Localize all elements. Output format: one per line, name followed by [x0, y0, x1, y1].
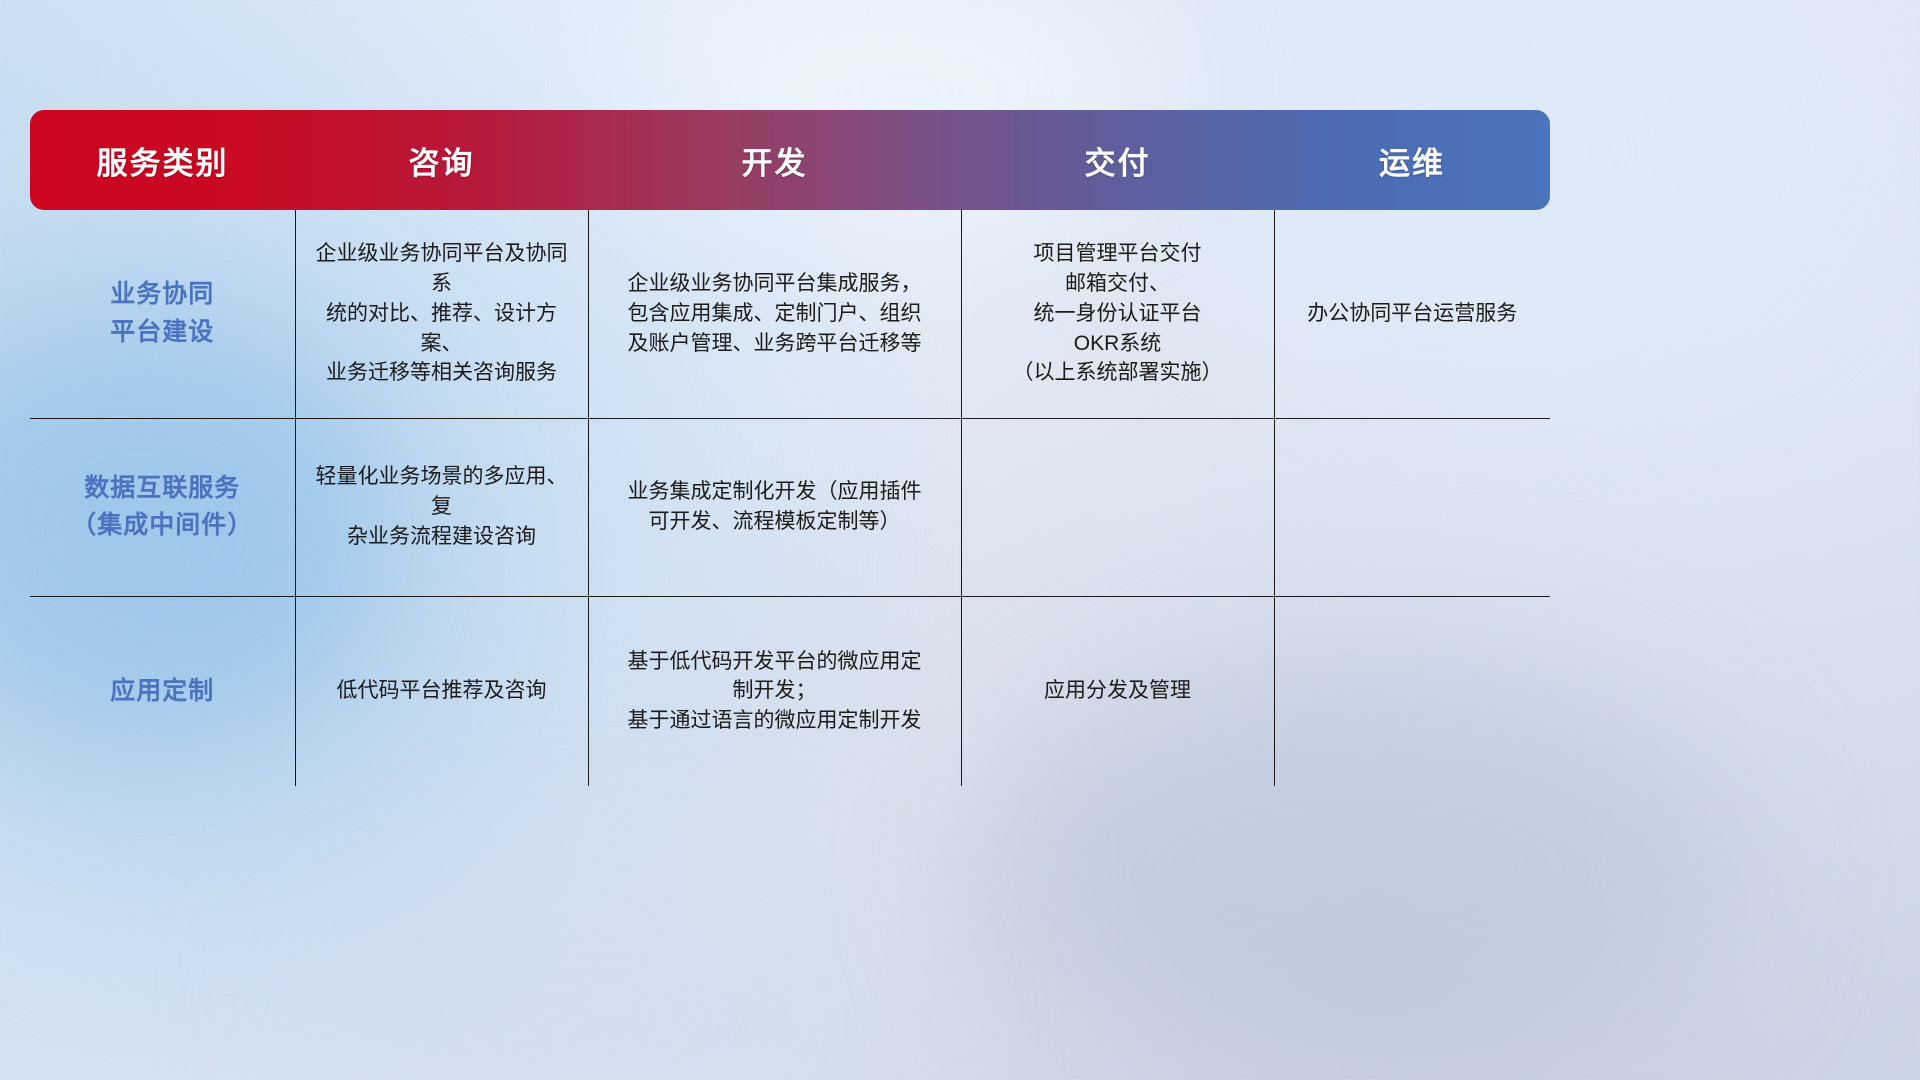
cell-text: 办公协同平台运营服务 — [1307, 302, 1517, 325]
row-label-text: 应用定制 — [110, 677, 214, 705]
table-row: 数据互联服务 （集成中间件） 轻量化业务场景的多应用、复 杂业务流程建设咨询 业… — [30, 418, 1550, 596]
service-matrix-table: 服务类别 咨询 开发 交付 运维 业务协同 平台建设 企业级业务协同平台及协同系… — [30, 110, 1550, 786]
table-row: 业务协同 平台建设 企业级业务协同平台及协同系 统的对比、推荐、设计方案、 业务… — [30, 210, 1550, 418]
row-label-app-customization: 应用定制 — [30, 596, 295, 786]
cell-delivery-row1: 项目管理平台交付 邮箱交付、 统一身份认证平台 OKR系统 （以上系统部署实施） — [961, 210, 1274, 418]
cell-text: 企业级业务协同平台及协同系 统的对比、推荐、设计方案、 业务迁移等相关咨询服务 — [316, 242, 568, 384]
cell-operations-row2 — [1274, 418, 1550, 596]
cell-text: 基于低代码开发平台的微应用定 制开发； 基于通过语言的微应用定制开发 — [628, 650, 922, 733]
row-label-text: 业务协同 平台建设 — [110, 280, 214, 346]
table-header: 服务类别 咨询 开发 交付 运维 — [30, 110, 1550, 210]
cell-consulting-row3: 低代码平台推荐及咨询 — [295, 596, 588, 786]
row-label-data-interconnect: 数据互联服务 （集成中间件） — [30, 418, 295, 596]
cell-consulting-row1: 企业级业务协同平台及协同系 统的对比、推荐、设计方案、 业务迁移等相关咨询服务 — [295, 210, 588, 418]
cell-text: 轻量化业务场景的多应用、复 杂业务流程建设咨询 — [316, 465, 568, 548]
cell-text: 项目管理平台交付 邮箱交付、 统一身份认证平台 OKR系统 （以上系统部署实施） — [1013, 242, 1223, 384]
row-label-business-collaboration: 业务协同 平台建设 — [30, 210, 295, 418]
cell-development-row2: 业务集成定制化开发（应用插件 可开发、流程模板定制等） — [588, 418, 961, 596]
cell-text: 企业级业务协同平台集成服务， 包含应用集成、定制门户、组织 及账户管理、业务跨平… — [628, 272, 922, 355]
cell-operations-row1: 办公协同平台运营服务 — [1274, 210, 1550, 418]
cell-consulting-row2: 轻量化业务场景的多应用、复 杂业务流程建设咨询 — [295, 418, 588, 596]
cell-development-row3: 基于低代码开发平台的微应用定 制开发； 基于通过语言的微应用定制开发 — [588, 596, 961, 786]
column-header-consulting: 咨询 — [295, 110, 588, 210]
background-blob-bottom — [300, 880, 920, 1080]
column-header-operations: 运维 — [1274, 110, 1550, 210]
column-header-delivery: 交付 — [961, 110, 1274, 210]
service-matrix-container: 服务类别 咨询 开发 交付 运维 业务协同 平台建设 企业级业务协同平台及协同系… — [30, 110, 1550, 785]
cell-development-row1: 企业级业务协同平台集成服务， 包含应用集成、定制门户、组织 及账户管理、业务跨平… — [588, 210, 961, 418]
cell-text: 业务集成定制化开发（应用插件 可开发、流程模板定制等） — [628, 480, 922, 533]
cell-delivery-row3: 应用分发及管理 — [961, 596, 1274, 786]
cell-operations-row3 — [1274, 596, 1550, 786]
cell-delivery-row2 — [961, 418, 1274, 596]
column-header-service-category: 服务类别 — [30, 110, 295, 210]
cell-text: 应用分发及管理 — [1044, 679, 1191, 702]
header-row: 服务类别 咨询 开发 交付 运维 — [30, 110, 1550, 210]
column-header-development: 开发 — [588, 110, 961, 210]
table-row: 应用定制 低代码平台推荐及咨询 基于低代码开发平台的微应用定 制开发； 基于通过… — [30, 596, 1550, 786]
row-label-text: 数据互联服务 （集成中间件） — [71, 474, 253, 540]
cell-text: 低代码平台推荐及咨询 — [337, 679, 547, 702]
table-body: 业务协同 平台建设 企业级业务协同平台及协同系 统的对比、推荐、设计方案、 业务… — [30, 210, 1550, 786]
